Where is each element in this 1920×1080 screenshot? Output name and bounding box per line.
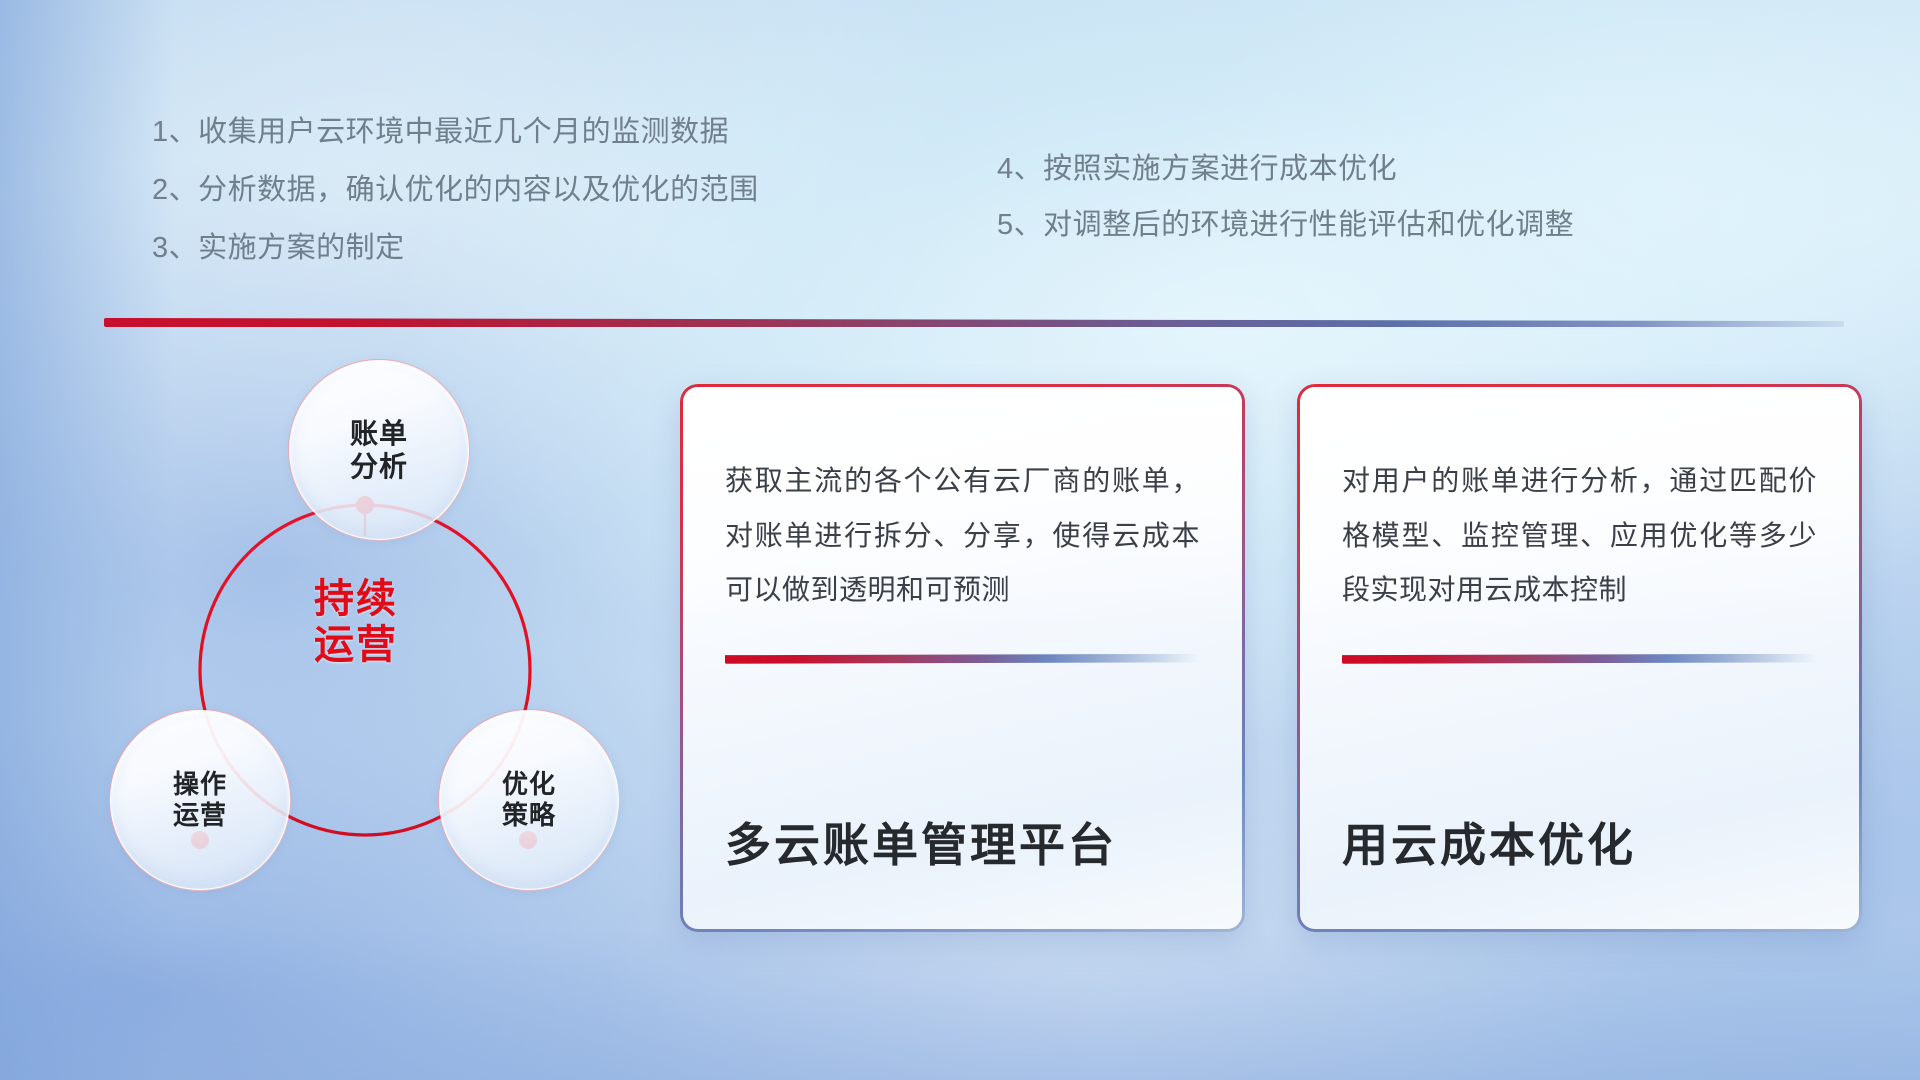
header-divider-bar (104, 318, 1844, 327)
card-cloud-cost-optimization-divider (1342, 654, 1817, 664)
card-multicloud-billing-divider (725, 654, 1200, 664)
center-label-line2: 运营 (314, 622, 398, 668)
card-multicloud-billing-body: 获取主流的各个公有云厂商的账单，对账单进行拆分、分享，使得云成本可以做到透明和可… (683, 387, 1242, 618)
card-cloud-cost-optimization-inner: 对用户的账单进行分析，通过匹配价格模型、监控管理、应用优化等多少段实现对用云成本… (1300, 387, 1859, 929)
diagram-center-text: 持续 运营 (314, 576, 398, 669)
feature-cards: 获取主流的各个公有云厂商的账单，对账单进行拆分、分享，使得云成本可以做到透明和可… (680, 384, 1862, 932)
bubble-left-line1: 操作 (173, 769, 227, 800)
card-cloud-cost-optimization-body: 对用户的账单进行分析，通过匹配价格模型、监控管理、应用优化等多少段实现对用云成本… (1300, 387, 1859, 618)
card-multicloud-billing-inner: 获取主流的各个公有云厂商的账单，对账单进行拆分、分享，使得云成本可以做到透明和可… (683, 387, 1242, 929)
step-item-4: 4、按照实施方案进行成本优化 (997, 155, 1574, 184)
bubble-operations-label: 操作 运营 (173, 769, 227, 830)
card-multicloud-billing-title: 多云账单管理平台 (725, 820, 1200, 871)
card-divider-bar (1342, 654, 1817, 664)
card-multicloud-billing[interactable]: 获取主流的各个公有云厂商的账单，对账单进行拆分、分享，使得云成本可以做到透明和可… (680, 384, 1245, 932)
bubble-operations: 操作 运营 (110, 710, 290, 890)
step-item-3: 3、实施方案的制定 (152, 234, 759, 263)
bubble-optimization-strategy: 优化 策略 (439, 710, 619, 890)
steps-right-column: 4、按照实施方案进行成本优化 5、对调整后的环境进行性能评估和优化调整 (997, 155, 1574, 267)
card-cloud-cost-optimization-title: 用云成本优化 (1342, 820, 1817, 871)
bubble-top-line1: 账单 (350, 417, 408, 450)
steps-left-column: 1、收集用户云环境中最近几个月的监测数据 2、分析数据，确认优化的内容以及优化的… (152, 118, 759, 292)
card-divider-bar (725, 654, 1200, 664)
bubble-optimization-strategy-label: 优化 策略 (502, 769, 556, 830)
step-item-2: 2、分析数据，确认优化的内容以及优化的范围 (152, 176, 759, 205)
bubble-right-line1: 优化 (502, 769, 556, 800)
header-divider (104, 318, 1844, 327)
continuous-operations-diagram: 账单 分析 操作 运营 优化 策略 持续 运营 (90, 340, 610, 960)
bubble-right-line2: 策略 (502, 800, 556, 831)
bubble-top-line2: 分析 (350, 450, 408, 483)
card-cloud-cost-optimization[interactable]: 对用户的账单进行分析，通过匹配价格模型、监控管理、应用优化等多少段实现对用云成本… (1297, 384, 1862, 932)
bubble-bill-analysis-label: 账单 分析 (350, 417, 408, 483)
step-item-5: 5、对调整后的环境进行性能评估和优化调整 (997, 211, 1574, 240)
bubble-bill-analysis: 账单 分析 (289, 360, 469, 540)
bubble-left-line2: 运营 (173, 800, 227, 831)
center-label-line1: 持续 (314, 576, 398, 622)
step-item-1: 1、收集用户云环境中最近几个月的监测数据 (152, 118, 759, 147)
